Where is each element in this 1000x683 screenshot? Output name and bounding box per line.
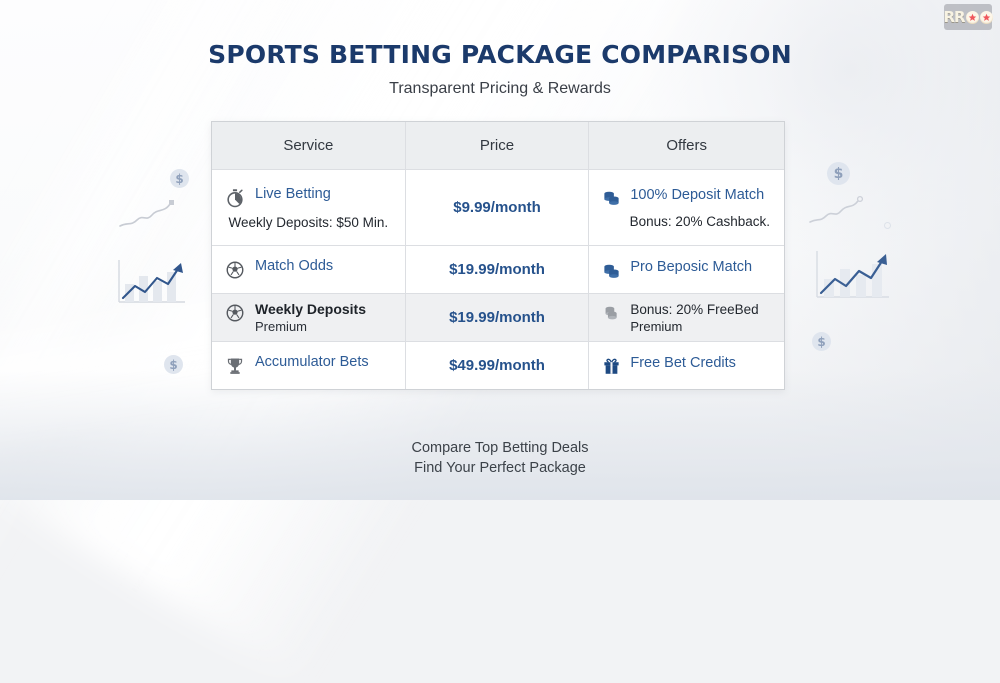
decorative-coin-left-top: $ bbox=[170, 169, 189, 188]
cell-service: Weekly Deposits Premium bbox=[212, 294, 405, 341]
decorative-ring-right bbox=[884, 222, 891, 229]
star-icon bbox=[982, 13, 991, 22]
soccer-ball-icon bbox=[224, 302, 246, 324]
soccer-ball-icon bbox=[224, 259, 246, 281]
table-row[interactable]: Match Odds $19.99/month Pro Beposi bbox=[212, 245, 784, 293]
table-header-row: Service Price Offers bbox=[212, 122, 784, 169]
price-value: $9.99/month bbox=[453, 199, 541, 216]
footer: Compare Top Betting Deals Find Your Perf… bbox=[0, 439, 1000, 478]
logo-nine-right bbox=[980, 11, 993, 24]
cell-price: $49.99/month bbox=[405, 342, 589, 389]
offer-title: 100% Deposit Match bbox=[630, 187, 764, 203]
decorative-coin-right-bottom: $ bbox=[812, 332, 831, 351]
table-row[interactable]: Live Betting Weekly Deposits: $50 Min. $… bbox=[212, 169, 784, 245]
decorative-coin-right-top: $ bbox=[827, 162, 850, 185]
trophy-icon bbox=[224, 355, 246, 377]
logo-nine-left bbox=[966, 11, 979, 24]
header: SPORTS BETTING PACKAGE COMPARISON Transp… bbox=[0, 40, 1000, 98]
coins-icon-grey bbox=[601, 303, 621, 323]
price-value: $49.99/month bbox=[449, 357, 545, 374]
offer-title: Free Bet Credits bbox=[630, 355, 736, 371]
cell-price: $19.99/month bbox=[405, 294, 589, 341]
logo-nines bbox=[966, 11, 993, 24]
service-subtitle: Weekly Deposits: $50 Min. bbox=[224, 215, 393, 230]
offer-subtitle: Bonus: 20% Cashback. bbox=[601, 214, 772, 229]
brand-logo[interactable]: RR bbox=[944, 4, 992, 30]
page-subtitle: Transparent Pricing & Rewards bbox=[0, 80, 1000, 98]
table-row[interactable]: Accumulator Bets $49.99/month Free Bet C… bbox=[212, 341, 784, 389]
table-row[interactable]: Weekly Deposits Premium $19.99/month bbox=[212, 293, 784, 341]
cell-offers: Pro Beposic Match bbox=[588, 246, 784, 293]
column-header-price: Price bbox=[405, 122, 589, 169]
dollar-sign-icon: $ bbox=[817, 335, 825, 349]
cell-offers: 100% Deposit Match Bonus: 20% Cashback. bbox=[588, 170, 784, 245]
footer-line-1: Compare Top Betting Deals bbox=[0, 439, 1000, 459]
service-title: Weekly Deposits bbox=[255, 301, 366, 317]
coins-icon bbox=[601, 188, 621, 208]
service-subtitle: Premium bbox=[255, 319, 366, 334]
cell-price: $19.99/month bbox=[405, 246, 589, 293]
decorative-coin-left-bottom: $ bbox=[164, 355, 183, 374]
stopwatch-icon bbox=[224, 187, 246, 209]
service-title: Live Betting bbox=[255, 186, 331, 202]
coins-icon bbox=[601, 260, 621, 280]
service-title: Match Odds bbox=[255, 258, 333, 274]
column-header-service-label: Service bbox=[283, 137, 333, 154]
column-header-offers: Offers bbox=[588, 122, 784, 169]
offer-subtitle: Premium bbox=[630, 319, 758, 334]
cell-service: Accumulator Bets bbox=[212, 342, 405, 389]
cell-service: Live Betting Weekly Deposits: $50 Min. bbox=[212, 170, 405, 245]
page-title: SPORTS BETTING PACKAGE COMPARISON bbox=[0, 40, 1000, 69]
cell-service: Match Odds bbox=[212, 246, 405, 293]
dollar-sign-icon: $ bbox=[834, 166, 844, 182]
dollar-sign-icon: $ bbox=[175, 172, 183, 186]
cell-offers: Free Bet Credits bbox=[588, 342, 784, 389]
logo-text: RR bbox=[943, 8, 964, 26]
cell-price: $9.99/month bbox=[405, 170, 589, 245]
offer-title: Bonus: 20% FreeBed bbox=[630, 302, 758, 317]
footer-line-2: Find Your Perfect Package bbox=[0, 459, 1000, 479]
dollar-sign-icon: $ bbox=[169, 358, 177, 372]
cell-offers: Bonus: 20% FreeBed Premium bbox=[588, 294, 784, 341]
service-title: Accumulator Bets bbox=[255, 354, 369, 370]
column-header-service: Service bbox=[212, 122, 405, 169]
price-value: $19.99/month bbox=[449, 309, 545, 326]
column-header-price-label: Price bbox=[480, 137, 514, 154]
gift-icon bbox=[601, 356, 621, 376]
price-value: $19.99/month bbox=[449, 261, 545, 278]
offer-title: Pro Beposic Match bbox=[630, 259, 752, 275]
star-icon bbox=[968, 13, 977, 22]
column-header-offers-label: Offers bbox=[666, 137, 707, 154]
pricing-comparison-table: Service Price Offers bbox=[211, 121, 785, 390]
